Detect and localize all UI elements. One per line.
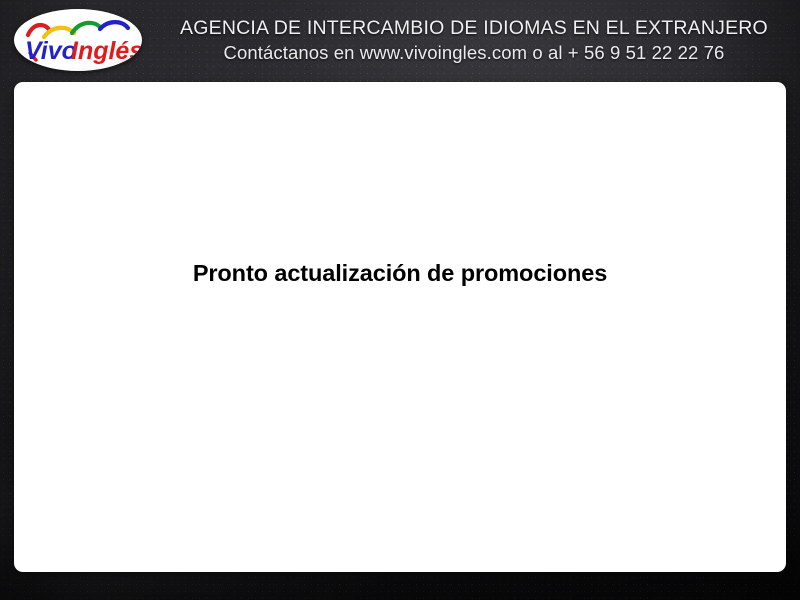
swoosh-icon — [28, 22, 128, 37]
promo-heading: Pronto actualización de promociones — [193, 260, 607, 287]
page-background: Vivo Inglés AGENCIA DE INTERCAMBIO DE ID… — [0, 0, 800, 600]
header-title: AGENCIA DE INTERCAMBIO DE IDIOMAS EN EL … — [180, 17, 768, 39]
logo-artwork: Vivo Inglés — [14, 9, 142, 71]
logo-word-ingles: Inglés — [71, 37, 142, 65]
logo-word-vivo: Vivo — [25, 37, 77, 65]
content-card: Pronto actualización de promociones — [14, 82, 786, 572]
header-text-block: AGENCIA DE INTERCAMBIO DE IDIOMAS EN EL … — [148, 0, 800, 80]
header-contact: Contáctanos en www.vivoingles.com o al +… — [224, 42, 725, 63]
content-card-body: Pronto actualización de promociones — [14, 82, 786, 572]
site-header: Vivo Inglés AGENCIA DE INTERCAMBIO DE ID… — [0, 0, 800, 80]
vivoingles-logo[interactable]: Vivo Inglés — [14, 9, 142, 71]
